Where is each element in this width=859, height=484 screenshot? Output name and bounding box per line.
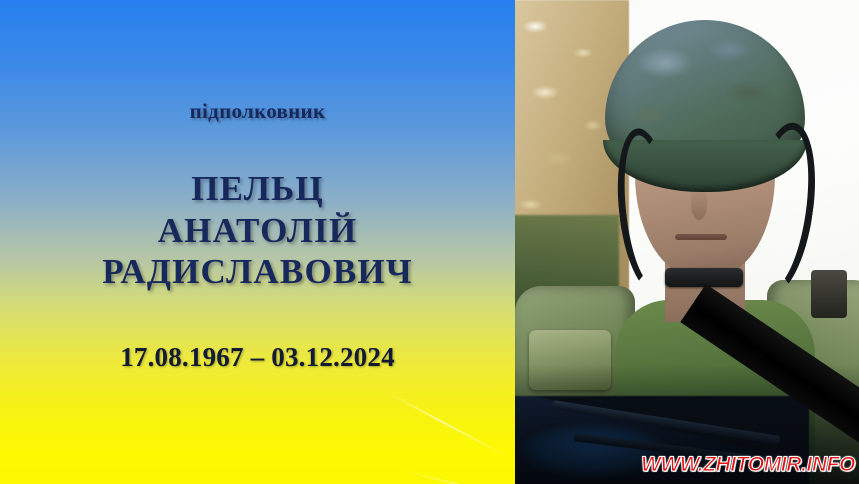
memorial-card: підполковник ПЕЛЬЦ АНАТОЛІЙ РАДИСЛАВОВИЧ… (0, 0, 859, 484)
chin-strap-buckle (665, 268, 743, 287)
memorial-text-block: підполковник ПЕЛЬЦ АНАТОЛІЙ РАДИСЛАВОВИЧ… (0, 0, 515, 484)
given-name-line: АНАТОЛІЙ (158, 211, 358, 251)
nose (691, 188, 707, 220)
surname-line: ПЕЛЬЦ (191, 169, 324, 209)
life-dates: 17.08.1967 – 03.12.2024 (120, 342, 395, 373)
patronymic-line: РАДИСЛАВОВИЧ (102, 252, 412, 292)
soldier-photograph (515, 0, 859, 484)
mouth (675, 234, 727, 240)
site-watermark: WWW.ZHITOMIR.INFO (641, 453, 855, 477)
rank-label: підполковник (190, 99, 326, 124)
shoulder-equipment (811, 270, 847, 318)
full-name: ПЕЛЬЦ АНАТОЛІЙ РАДИСЛАВОВИЧ (102, 169, 412, 292)
